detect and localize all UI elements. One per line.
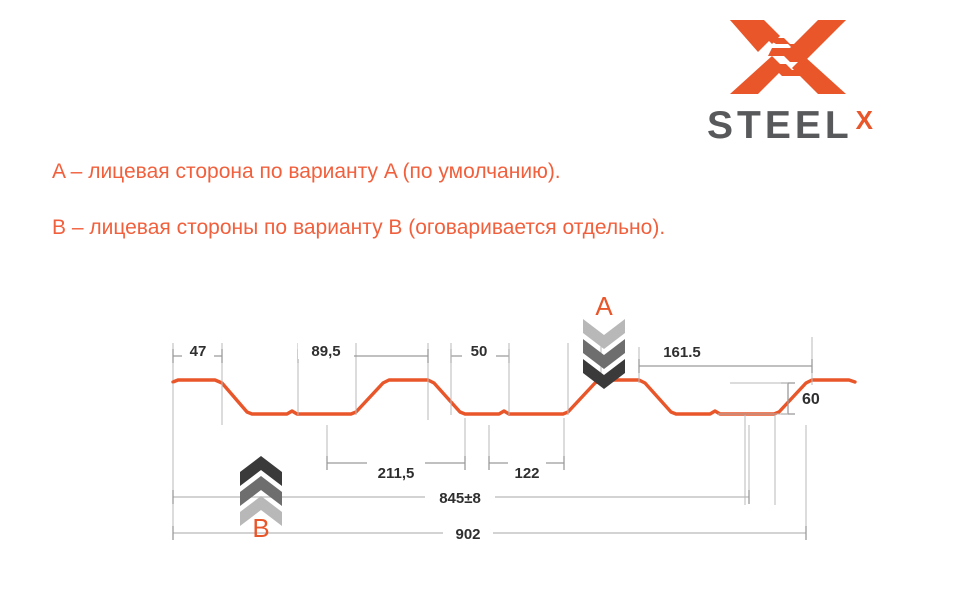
brand-wordmark: STEEL X [690,106,890,146]
dimension-902-label: 902 [455,526,480,543]
brand-logo: STEEL X [690,18,890,143]
dimension-845-label: 845±8 [439,490,481,507]
face-a-marker: A [583,291,625,389]
dimension-50: 50 [451,341,509,415]
dimension-122-label: 122 [514,465,539,482]
profile-outline [173,380,855,414]
dimension-122: 122 [489,456,564,482]
face-b-label: B [252,513,269,543]
legend-line-b: B – лицевая стороны по варианту B (огова… [52,216,665,240]
dimension-211-5: 211,5 [327,456,465,482]
legend-line-a: A – лицевая сторона по варианту A (по ум… [52,160,561,184]
dimension-50-label: 50 [471,343,488,360]
dimension-211-5-label: 211,5 [378,465,415,482]
face-a-label: A [595,291,613,321]
dimension-89-5-label: 89,5 [311,343,340,360]
dimension-60-label: 60 [802,391,820,408]
dimension-47-label: 47 [190,343,207,360]
drawing-page: STEEL X A – лицевая сторона по варианту … [0,0,970,597]
profile-technical-drawing: 47 89,5 50 [0,275,970,565]
dimension-161-5: 161.5 [639,341,812,373]
face-b-marker: B [240,456,282,543]
steelx-x-mark-icon [728,18,848,96]
brand-wordmark-text: STEEL [707,106,853,145]
dimension-47: 47 [173,341,222,363]
dimension-60: 60 [718,383,820,414]
brand-wordmark-superscript: X [856,107,873,133]
dimension-161-5-label: 161.5 [663,344,701,361]
